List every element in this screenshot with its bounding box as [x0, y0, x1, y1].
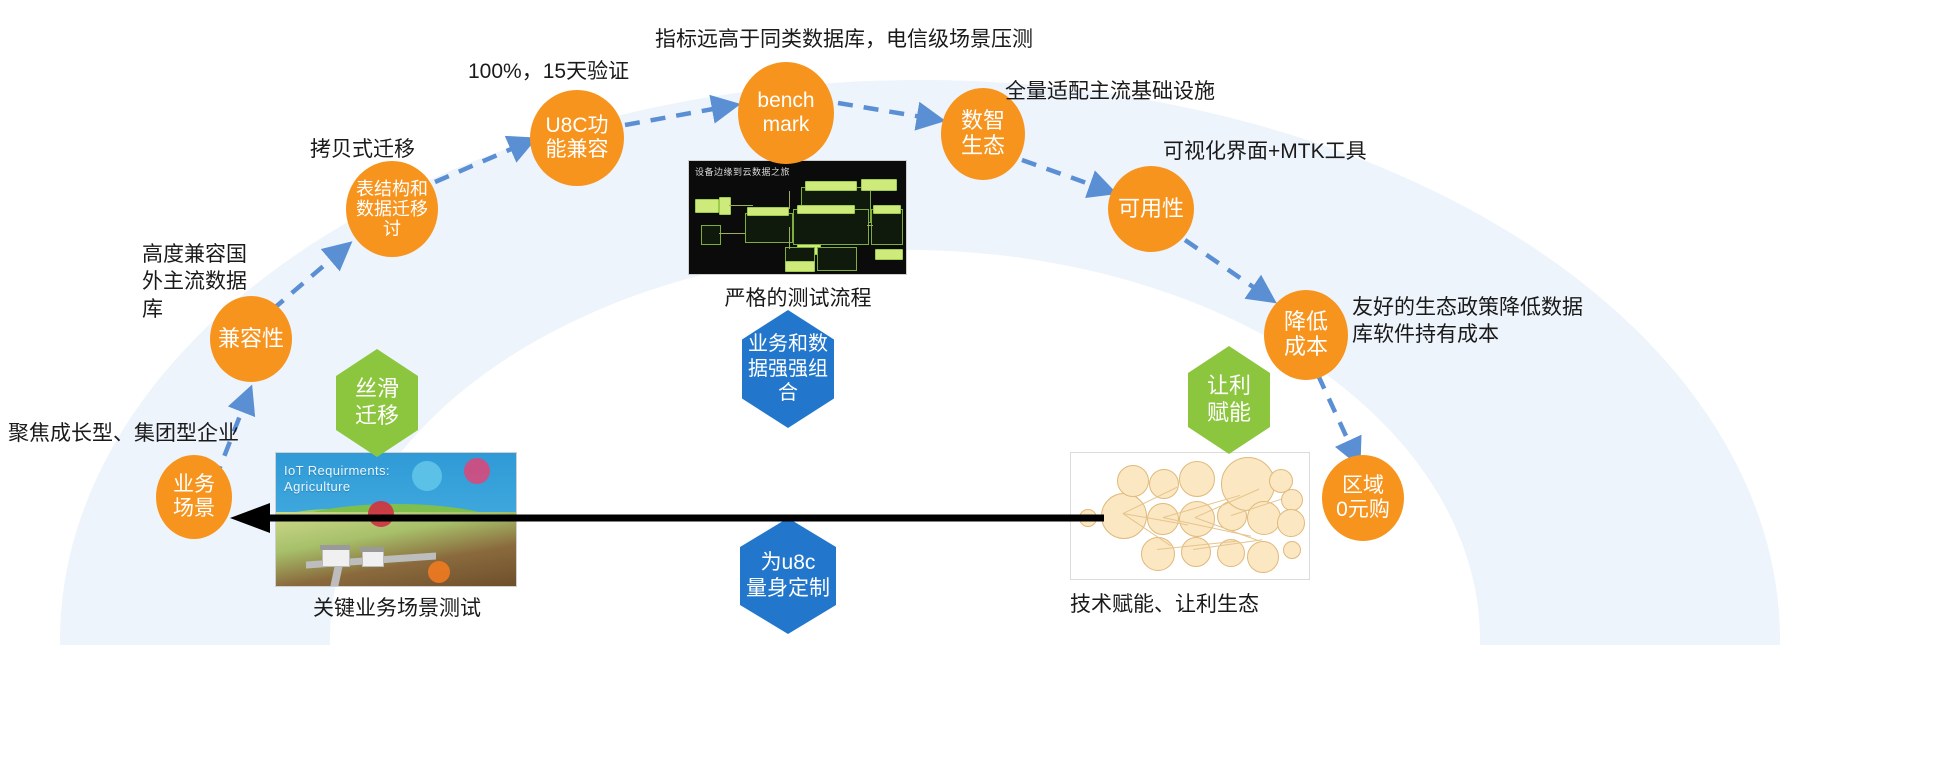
- hex-smooth-migration-label: 丝滑 迁移: [355, 376, 399, 430]
- hex-profit-empowerment-label: 让利 赋能: [1207, 373, 1251, 427]
- node-cost-reduction[interactable]: 降低 成本: [1264, 290, 1348, 380]
- node-availability[interactable]: 可用性: [1108, 166, 1194, 252]
- iot-overlay-title: IoT Requirments: Agriculture: [284, 463, 390, 496]
- annotation-visual-ui-mtk: 可视化界面+MTK工具: [1163, 138, 1367, 165]
- node-business-scenario[interactable]: 业务 场景: [156, 455, 232, 539]
- caption-edge-to-cloud: 严格的测试流程: [700, 282, 896, 312]
- hex-profit-empowerment[interactable]: 让利 赋能: [1188, 346, 1270, 454]
- bottom-left-arrow: [226, 498, 1106, 538]
- node-cost-reduction-label: 降低 成本: [1266, 310, 1346, 359]
- annotation-focus-enterprise: 聚焦成长型、集团型企业: [8, 420, 239, 447]
- node-smart-ecosystem-label: 数智 生态: [943, 109, 1023, 158]
- annotation-highly-compatible-db: 高度兼容国 外主流数据 库: [142, 241, 272, 323]
- node-zero-yuan-purchase-label: 区域 0元购: [1324, 474, 1402, 521]
- diagram-canvas: 设备边缘到云数据之旅 严格的测试流程: [0, 0, 1945, 782]
- hex-smooth-migration[interactable]: 丝滑 迁移: [336, 349, 418, 457]
- annotation-copy-migration: 拷贝式迁移: [310, 136, 415, 163]
- annotation-friendly-eco-policy: 友好的生态政策降低数据 库软件持有成本: [1352, 294, 1652, 349]
- node-benchmark[interactable]: bench mark: [738, 62, 834, 164]
- caption-technology-ecosystem: 技术赋能、让利生态: [1070, 588, 1370, 618]
- annotation-metrics-superior: 指标远高于同类数据库，电信级场景压测: [655, 26, 1033, 53]
- caption-iot-agriculture: 关键业务场景测试: [276, 592, 518, 622]
- node-zero-yuan-purchase[interactable]: 区域 0元购: [1322, 455, 1404, 541]
- hex-tailored-for-u8c-label: 为u8c 量身定制: [746, 550, 830, 601]
- thumbnail-technology-ecosystem: [1070, 452, 1310, 580]
- hex-strong-combination[interactable]: 业务和数 据强强组 合: [742, 310, 834, 428]
- node-schema-data-migration[interactable]: 表结构和 数据迁移 讨: [346, 161, 438, 257]
- node-u8c-function-compat-label: U8C功 能兼容: [532, 114, 622, 161]
- node-business-scenario-label: 业务 场景: [158, 473, 230, 520]
- thumbnail-edge-to-cloud: 设备边缘到云数据之旅: [688, 160, 907, 275]
- hex-strong-combination-label: 业务和数 据强强组 合: [748, 332, 828, 405]
- node-compatibility-label: 兼容性: [212, 327, 290, 352]
- node-u8c-function-compat[interactable]: U8C功 能兼容: [530, 90, 624, 186]
- annotation-verify-15-days: 100%，15天验证: [468, 58, 629, 85]
- node-availability-label: 可用性: [1110, 197, 1192, 222]
- edge-to-cloud-overlay-title: 设备边缘到云数据之旅: [695, 165, 790, 178]
- annotation-full-adaptation: 全量适配主流基础设施: [1005, 78, 1215, 105]
- node-schema-data-migration-label: 表结构和 数据迁移 讨: [348, 179, 436, 239]
- node-benchmark-label: bench mark: [740, 89, 832, 136]
